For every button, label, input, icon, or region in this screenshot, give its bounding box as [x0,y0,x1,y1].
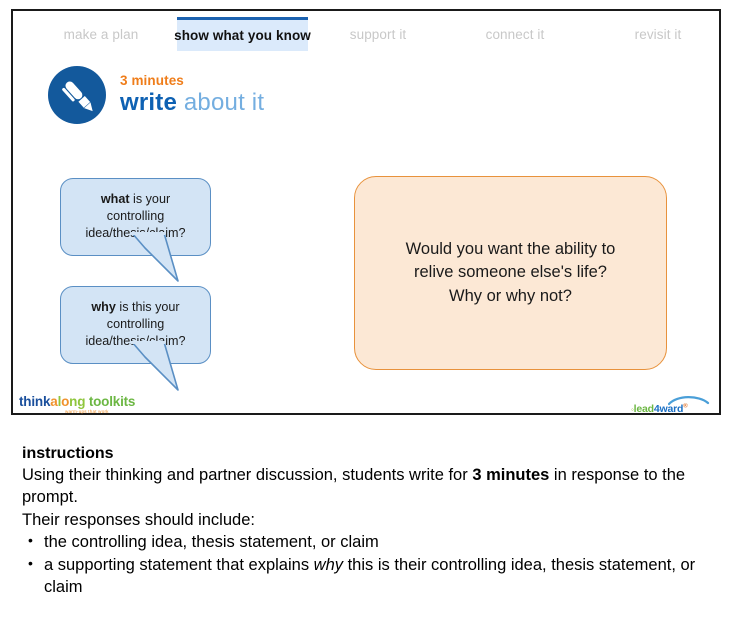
logo-part-think: think [19,394,50,409]
bubble-line2: controlling [107,209,164,223]
tab-label: show what you know [174,28,311,43]
instructions-bullet-list: the controlling idea, thesis statement, … [22,532,722,598]
list-item: the controlling idea, thesis statement, … [22,532,722,554]
tab-label: connect it [486,27,545,42]
logo-ward: ward [660,403,684,415]
bullet-italic: why [314,556,343,574]
bubble-line3: idea/thesis/claim? [85,226,185,240]
instructions-heading: instructions [22,443,722,464]
tab-label: revisit it [635,27,682,42]
list-item: a supporting statement that explains why… [22,555,722,599]
logo-tagline: warm-ups that work [65,409,109,414]
lead4ward-logo: ◦lead4ward® [631,395,711,415]
tab-make-a-plan[interactable]: make a plan [41,17,161,51]
instructions-section: instructions Using their thinking and pa… [22,443,722,600]
tab-bar: make a plan show what you know support i… [13,17,719,51]
activity-header: 3 minutes write about it [48,66,264,124]
lead4ward-wordmark: ◦lead4ward® [631,403,687,415]
duration-label: 3 minutes [120,74,264,89]
tab-connect-it[interactable]: connect it [460,17,570,51]
logo-part-ng: ng [69,394,85,409]
action-rest: about it [177,89,264,116]
prompt-line1: Would you want the ability to [406,240,616,258]
bubble-emphasis: what [101,192,130,206]
tab-support-it[interactable]: support it [323,17,433,51]
logo-part-toolkits: toolkits [85,394,135,409]
activity-title: 3 minutes write about it [120,74,264,115]
action-verb: write [120,89,177,116]
speech-bubble-why: why is this your controlling idea/thesis… [60,286,211,364]
instructions-body-pre: Using their thinking and partner discuss… [22,466,472,484]
logo-lead: lead [634,403,654,415]
prompt-line2: relive someone else's life? [414,263,607,281]
bubble-line3: idea/thesis/claim? [85,334,185,348]
bubble-emphasis: why [91,300,116,314]
tab-show-what-you-know[interactable]: show what you know [177,17,308,51]
bullet-pre: the controlling idea, thesis statement, … [44,533,379,551]
thinkalong-toolkits-logo: thinkalong toolkits [19,394,135,409]
speech-bubble-what: what is your controlling idea/thesis/cla… [60,178,211,256]
logo-part-o: o [61,394,69,409]
prompt-line3: Why or why not? [449,287,572,305]
bubble-rest: is this your [116,300,180,314]
logo-registered-mark: ® [683,404,687,410]
prompt-box: Would you want the ability to relive som… [354,176,667,370]
bubble-line2: controlling [107,317,164,331]
prompt-text: Would you want the ability to relive som… [406,238,616,308]
tab-label: make a plan [64,27,139,42]
instructions-body-bold: 3 minutes [472,466,549,484]
tab-label: support it [350,27,407,42]
action-label: write about it [120,90,264,116]
logo-part-a: a [50,394,57,409]
tab-revisit-it[interactable]: revisit it [608,17,708,51]
instructions-subheading: Their responses should include: [22,510,722,532]
slide-frame: make a plan show what you know support i… [11,9,721,415]
bubble-rest: is your [130,192,171,206]
instructions-body: Using their thinking and partner discuss… [22,465,722,509]
pen-icon [48,66,106,124]
bullet-pre: a supporting statement that explains [44,556,314,574]
